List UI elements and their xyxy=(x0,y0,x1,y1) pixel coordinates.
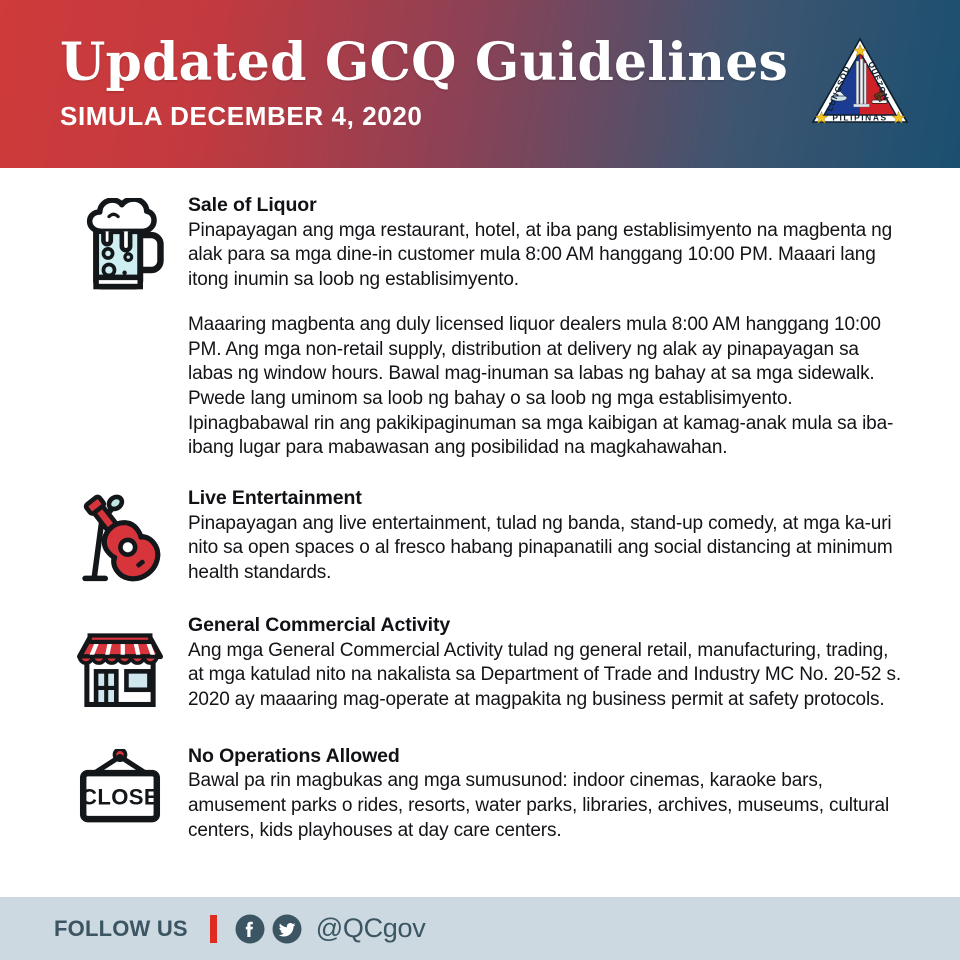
social-handle: @QCgov xyxy=(316,913,426,944)
footer-divider xyxy=(210,915,217,943)
facebook-icon[interactable] xyxy=(235,914,265,944)
twitter-icon[interactable] xyxy=(272,914,302,944)
section-title: General Commercial Activity xyxy=(188,614,904,638)
quezon-city-seal-icon: LUNGSOD QUEZON PILIPINAS xyxy=(808,32,912,136)
section-paragraph: Pinapayagan ang live entertainment, tula… xyxy=(188,512,904,586)
section-paragraph: Bawal pa rin magbukas ang mga sumusunod:… xyxy=(188,769,904,843)
section-no-operations-allowed: CLOSE No Operations Allowed Bawal pa rin… xyxy=(64,745,910,844)
section-sale-of-liquor: Sale of Liquor Pinapayagan ang mga resta… xyxy=(64,194,910,461)
svg-text:CLOSE: CLOSE xyxy=(81,784,159,809)
gcq-guidelines-poster: Updated GCQ Guidelines SIMULA DECEMBER 4… xyxy=(0,0,960,960)
section-body: Sale of Liquor Pinapayagan ang mga resta… xyxy=(176,194,910,461)
section-paragraph: Maaaring magbenta ang duly licensed liqu… xyxy=(188,313,904,461)
guitar-microphone-icon xyxy=(64,487,176,583)
page-subtitle: SIMULA DECEMBER 4, 2020 xyxy=(60,101,808,132)
close-sign-icon: CLOSE xyxy=(64,745,176,834)
section-body: Live Entertainment Pinapayagan ang live … xyxy=(176,487,910,586)
follow-us-label: FOLLOW US xyxy=(54,916,188,942)
header-text-block: Updated GCQ Guidelines SIMULA DECEMBER 4… xyxy=(60,36,808,131)
guidelines-content: Sale of Liquor Pinapayagan ang mga resta… xyxy=(0,168,960,897)
poster-footer: FOLLOW US @QCgov xyxy=(0,897,960,960)
section-body: General Commercial Activity Ang mga Gene… xyxy=(176,614,910,713)
section-paragraph: Ang mga General Commercial Activity tula… xyxy=(188,639,904,713)
section-title: Sale of Liquor xyxy=(188,194,904,218)
storefront-icon xyxy=(64,614,176,710)
section-title: No Operations Allowed xyxy=(188,745,904,769)
section-body: No Operations Allowed Bawal pa rin magbu… xyxy=(176,745,910,844)
section-live-entertainment: Live Entertainment Pinapayagan ang live … xyxy=(64,487,910,586)
section-title: Live Entertainment xyxy=(188,487,904,511)
svg-text:PILIPINAS: PILIPINAS xyxy=(832,112,887,122)
section-paragraph: Pinapayagan ang mga restaurant, hotel, a… xyxy=(188,219,904,293)
poster-header: Updated GCQ Guidelines SIMULA DECEMBER 4… xyxy=(0,0,960,168)
page-title: Updated GCQ Guidelines xyxy=(60,36,808,90)
beer-mug-icon xyxy=(64,194,176,296)
section-general-commercial-activity: General Commercial Activity Ang mga Gene… xyxy=(64,614,910,713)
